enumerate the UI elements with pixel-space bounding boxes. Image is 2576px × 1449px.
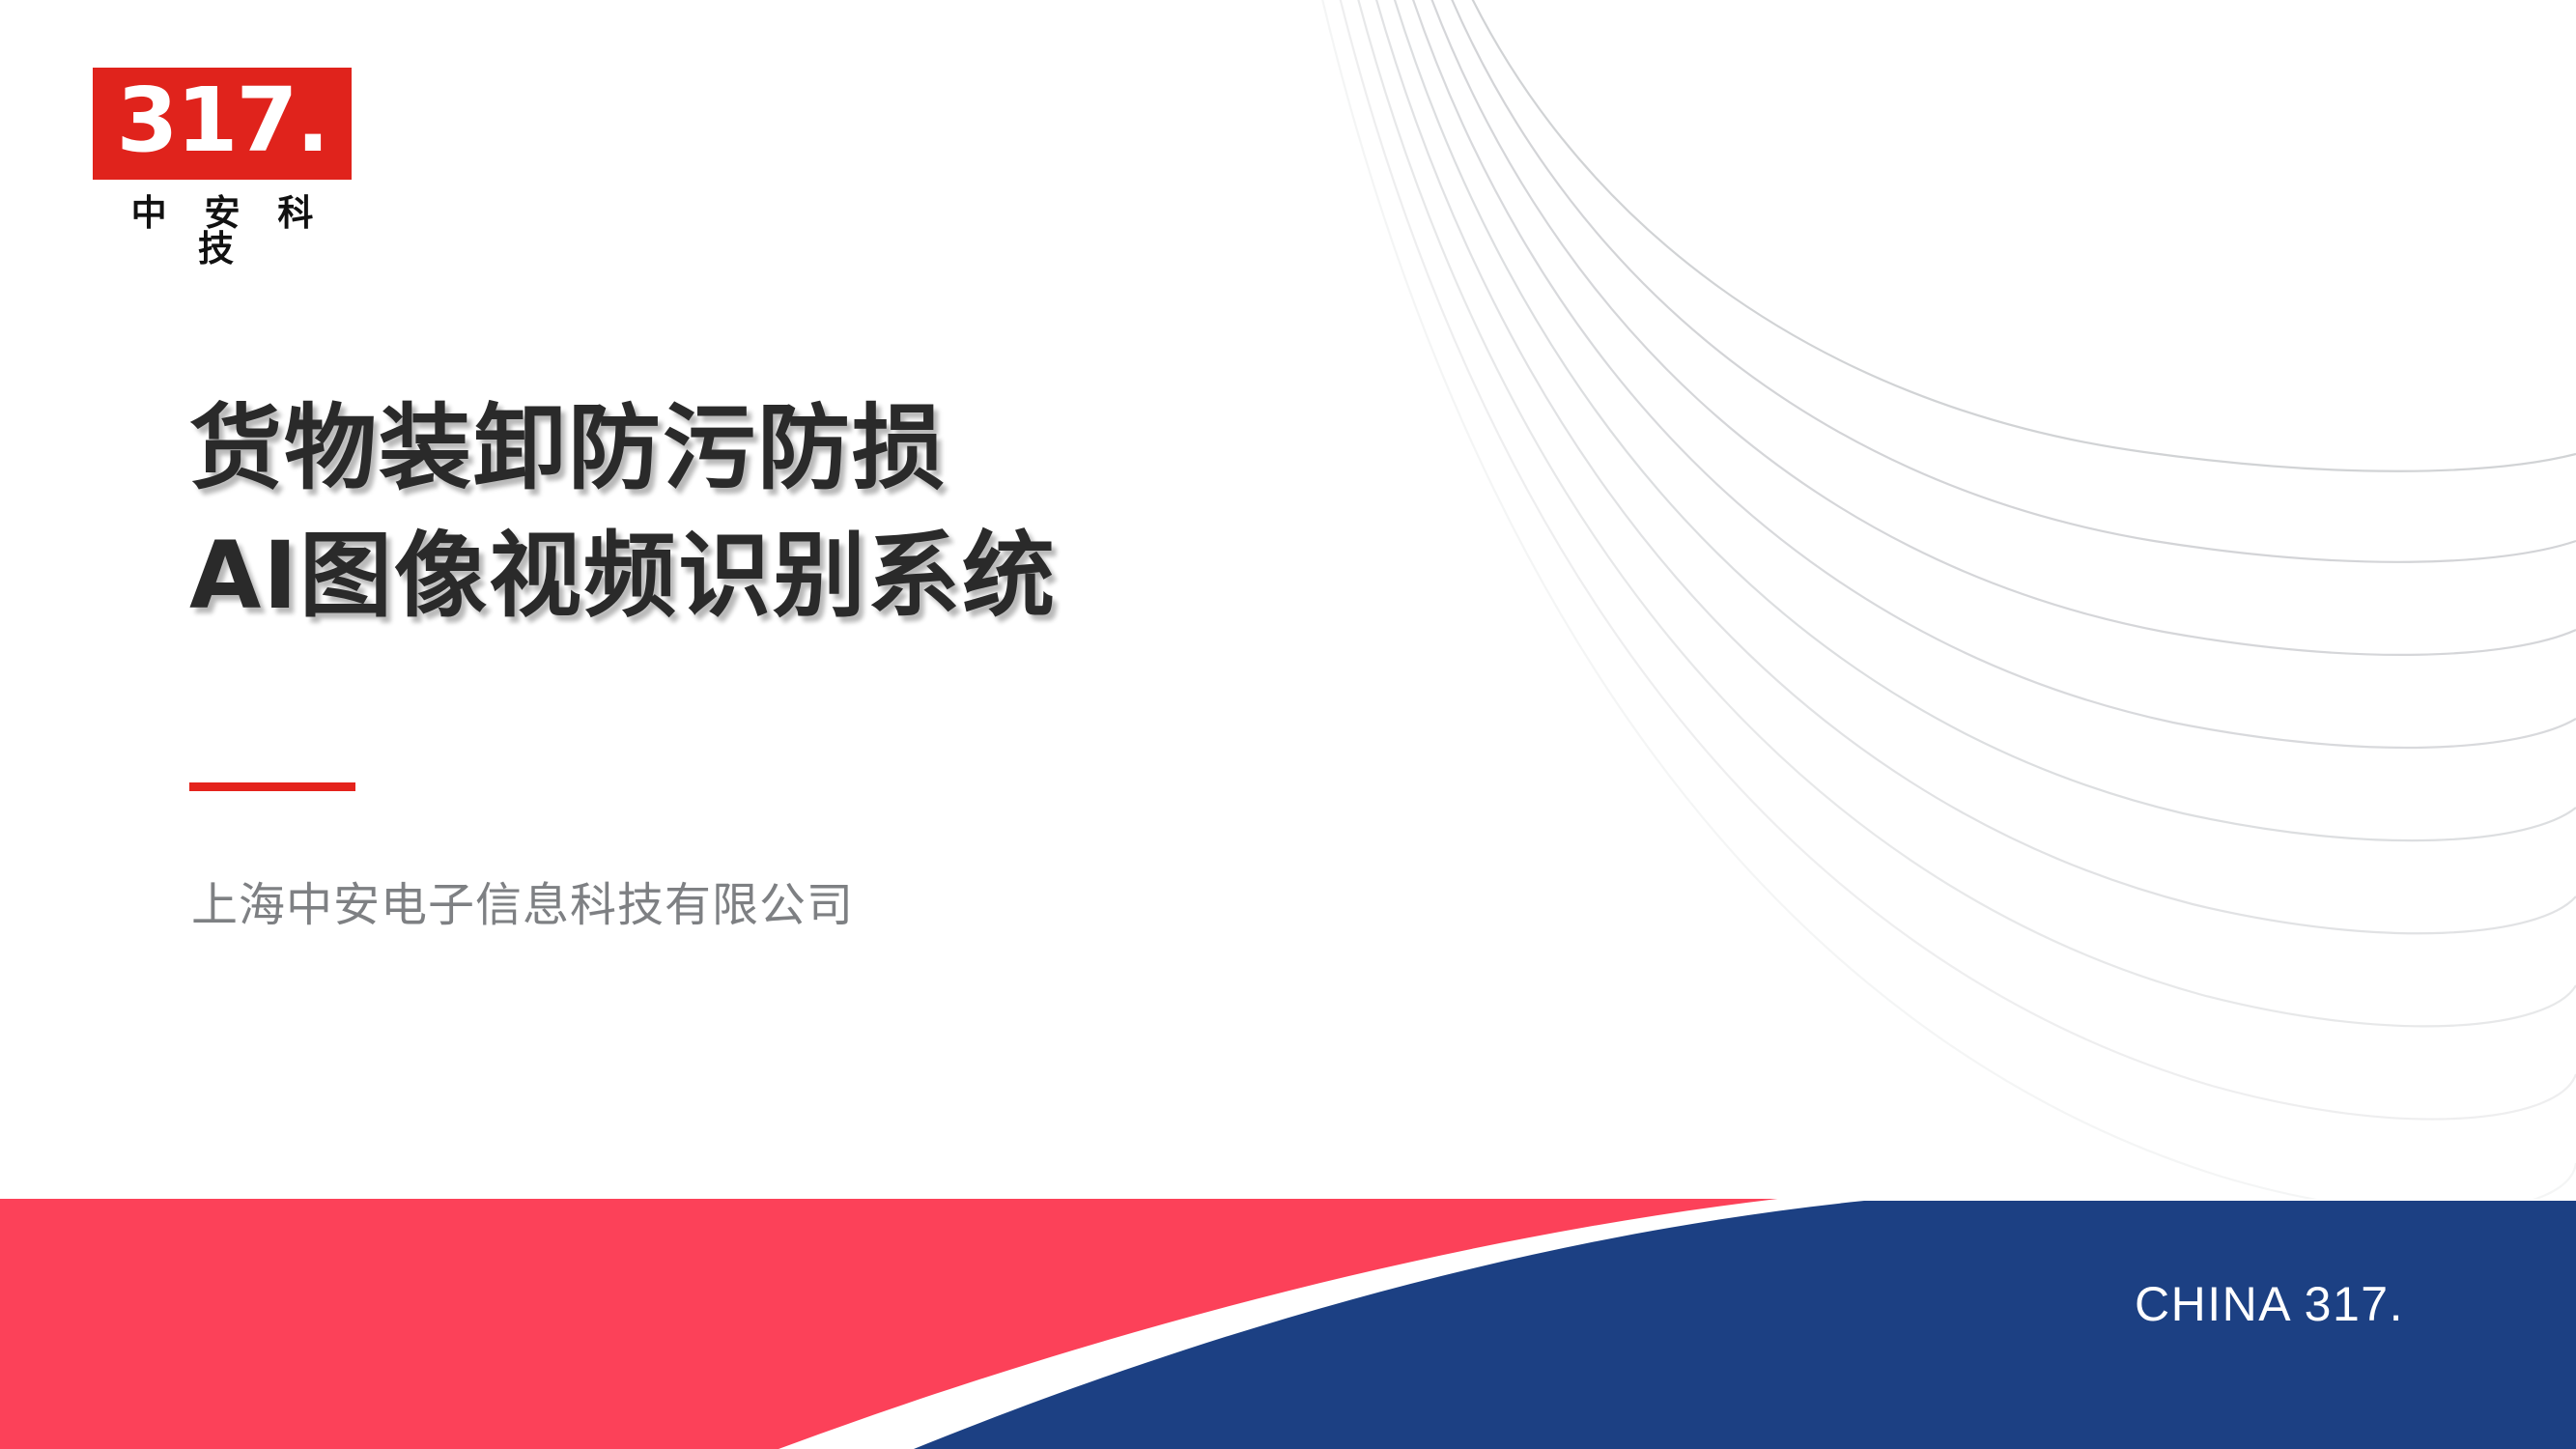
logo-company-short-name: 中 安 科 技	[93, 195, 352, 267]
title-line-1: 货物装卸防污防损	[189, 384, 1638, 512]
company-logo: 317. 中 安 科 技	[93, 68, 352, 267]
slide-title: 货物装卸防污防损 AI图像视频识别系统	[189, 384, 1638, 640]
title-divider-rule	[189, 782, 355, 791]
slide-canvas: 317. 中 安 科 技 货物装卸防污防损 AI图像视频识别系统 上海中安电子信…	[0, 0, 2576, 1449]
logo-mark-text: 317.	[117, 76, 328, 165]
banner-label-china-317: CHINA 317.	[2135, 1280, 2404, 1328]
title-line-2: AI图像视频识别系统	[189, 512, 1638, 639]
subtitle-company-name: 上海中安电子信息科技有限公司	[191, 875, 854, 935]
bottom-banner: CHINA 317.	[0, 1199, 2576, 1449]
logo-mark-317: 317.	[93, 68, 352, 180]
